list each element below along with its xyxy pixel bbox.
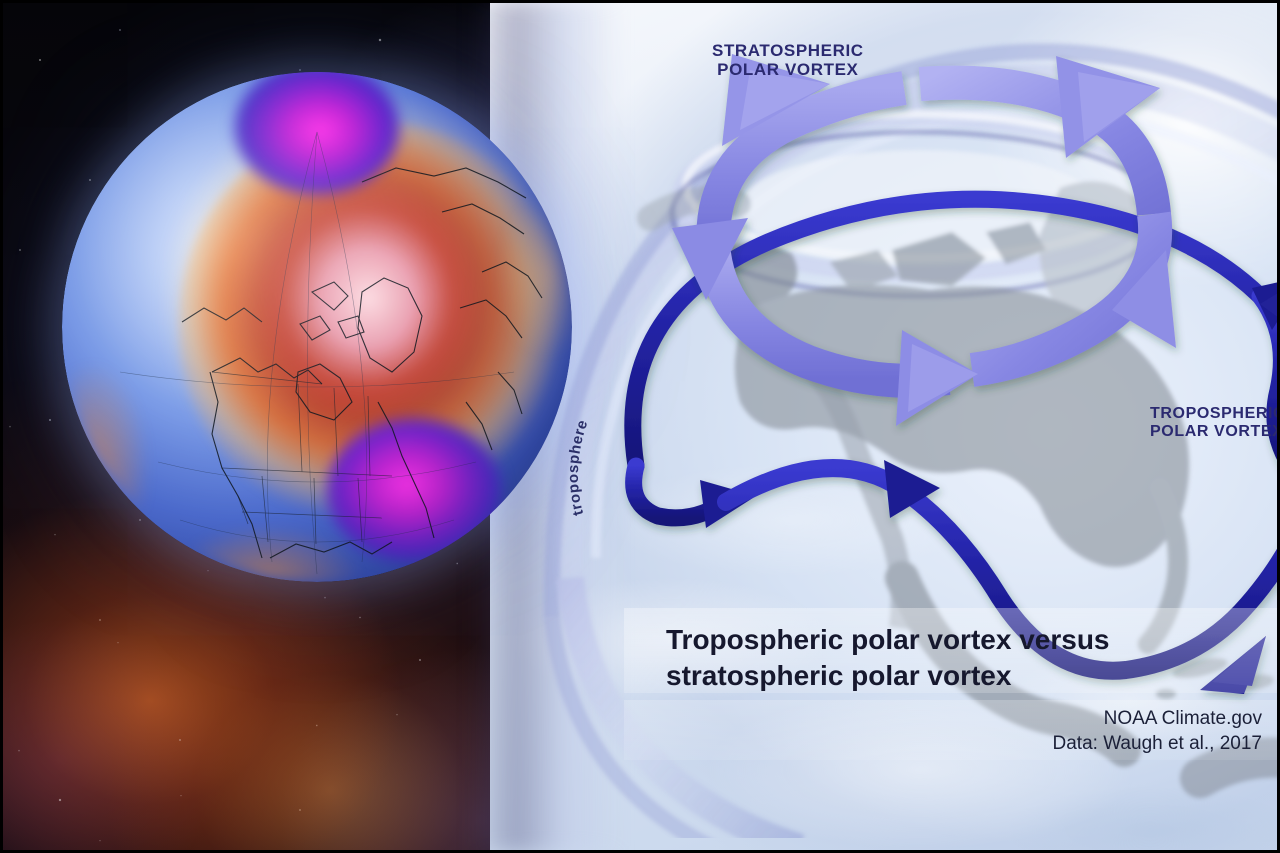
troposphere-text: troposphere xyxy=(565,418,592,518)
figure-credit: NOAA Climate.gov Data: Waugh et al., 201… xyxy=(842,706,1262,756)
illustration-canvas: troposphere STRATOSPHERIC POLAR VORTEX T… xyxy=(0,0,1280,853)
tropo-label-line1: TROPOSPHERIC xyxy=(1150,405,1280,423)
svg-text:troposphere: troposphere xyxy=(565,418,592,518)
strat-label-line2: POLAR VORTEX xyxy=(712,60,864,79)
troposphere-layer-label: troposphere xyxy=(560,380,680,520)
tropo-label-line2: POLAR VORTEX xyxy=(1150,423,1280,441)
credit-line-1: NOAA Climate.gov xyxy=(842,706,1262,731)
credit-line-2: Data: Waugh et al., 2017 xyxy=(842,731,1262,756)
temperature-anomaly-globe xyxy=(62,72,572,582)
title-line-2: stratospheric polar vortex xyxy=(666,658,1266,694)
strat-label-line1: STRATOSPHERIC xyxy=(712,41,864,60)
figure-title: Tropospheric polar vortex versus stratos… xyxy=(666,622,1266,694)
title-line-1: Tropospheric polar vortex versus xyxy=(666,622,1266,658)
globe-terminator-shading xyxy=(62,72,572,582)
tropospheric-polar-vortex-label: TROPOSPHERIC POLAR VORTEX xyxy=(1150,405,1280,441)
stratospheric-polar-vortex-label: STRATOSPHERIC POLAR VORTEX xyxy=(712,41,864,80)
